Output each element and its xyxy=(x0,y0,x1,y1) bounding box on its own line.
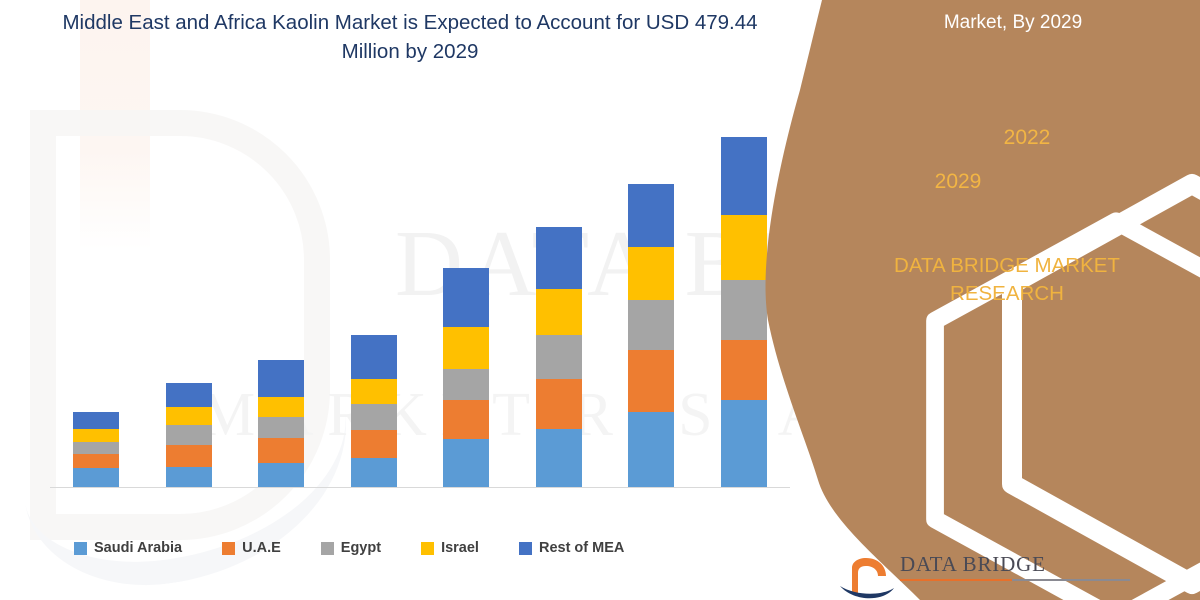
chart-legend: Saudi ArabiaU.A.EEgyptIsraelRest of MEA xyxy=(74,540,774,556)
legend-item[interactable]: Israel xyxy=(421,540,479,556)
bar-segment xyxy=(721,400,767,487)
hexagon-badges: 2029 2022 xyxy=(896,84,1116,244)
bar-segment xyxy=(443,369,489,400)
chart-title: Middle East and Africa Kaolin Market is … xyxy=(40,8,780,66)
bar-column xyxy=(605,120,698,487)
legend-label: Israel xyxy=(441,540,479,556)
logo-rule-accent xyxy=(900,579,1012,581)
legend-swatch-icon xyxy=(421,542,434,555)
stacked-bar xyxy=(73,412,119,487)
legend-label: Egypt xyxy=(341,540,381,556)
bar-segment xyxy=(166,383,212,407)
bar-segment xyxy=(258,417,304,438)
stacked-bar xyxy=(443,268,489,487)
logo-mark-icon xyxy=(838,548,894,600)
legend-swatch-icon xyxy=(519,542,532,555)
bar-column xyxy=(328,120,421,487)
brand-line-1: DATA BRIDGE MARKET xyxy=(894,254,1120,277)
legend-label: Rest of MEA xyxy=(539,540,624,556)
bar-column xyxy=(420,120,513,487)
bar-segment xyxy=(536,335,582,379)
bar-segment xyxy=(443,400,489,439)
bar-segment xyxy=(166,467,212,487)
infographic-canvas: DATA BRIDGE MARKET RESEARCH Middle East … xyxy=(0,0,1200,600)
bar-segment xyxy=(536,379,582,429)
plot-area: 20222023202420252026202720282029 xyxy=(50,120,790,488)
bar-segment xyxy=(721,340,767,400)
legend-swatch-icon xyxy=(74,542,87,555)
legend-item[interactable]: Rest of MEA xyxy=(519,540,624,556)
bar-segment xyxy=(166,425,212,445)
stacked-bar xyxy=(258,360,304,487)
legend-label: U.A.E xyxy=(242,540,281,556)
bar-segment xyxy=(351,379,397,404)
bar-segment xyxy=(258,360,304,397)
hexagon-2029 xyxy=(896,120,1200,600)
hexagon-2022-label: 2022 xyxy=(982,126,1072,150)
panel-header: Market, By 2029 xyxy=(848,12,1178,34)
bar-segment xyxy=(721,280,767,340)
bar-segment xyxy=(73,468,119,487)
bar-segment xyxy=(443,327,489,369)
legend-item[interactable]: Egypt xyxy=(321,540,381,556)
bar-segment xyxy=(166,445,212,467)
logo-text: DATA BRIDGE xyxy=(900,552,1046,577)
bar-segment xyxy=(351,458,397,487)
bar-segment xyxy=(628,184,674,247)
bar-group xyxy=(50,120,790,487)
bar-segment xyxy=(628,247,674,300)
x-axis-line xyxy=(50,487,790,488)
bar-segment xyxy=(536,227,582,289)
brand-panel-shape xyxy=(760,0,1200,600)
bar-segment xyxy=(73,429,119,442)
legend-swatch-icon xyxy=(321,542,334,555)
legend-swatch-icon xyxy=(222,542,235,555)
bar-column xyxy=(50,120,143,487)
stacked-bar xyxy=(536,227,582,487)
hexagon-2022 xyxy=(972,84,1200,600)
stacked-bar xyxy=(351,335,397,487)
legend-item[interactable]: Saudi Arabia xyxy=(74,540,182,556)
bar-segment xyxy=(351,404,397,430)
stacked-bar xyxy=(166,383,212,487)
brand-panel: Market, By 2029 2029 2022 DATA BRIDGE MA… xyxy=(760,0,1200,600)
bar-column xyxy=(513,120,606,487)
bar-segment xyxy=(628,350,674,412)
bar-segment xyxy=(73,442,119,454)
brand-name: DATA BRIDGE MARKET RESEARCH xyxy=(842,252,1172,308)
bar-segment xyxy=(628,412,674,487)
bar-column xyxy=(143,120,236,487)
bar-segment xyxy=(536,289,582,335)
stacked-bar xyxy=(721,137,767,487)
bar-segment xyxy=(258,397,304,417)
bar-column xyxy=(235,120,328,487)
bar-segment xyxy=(73,454,119,468)
data-bridge-logo: DATA BRIDGE xyxy=(838,548,1158,600)
bar-segment xyxy=(536,429,582,487)
bar-segment xyxy=(258,463,304,487)
bar-segment xyxy=(166,407,212,425)
bar-segment xyxy=(351,430,397,458)
hexagon-2029-label: 2029 xyxy=(913,170,1003,194)
bar-segment xyxy=(721,137,767,215)
bar-segment xyxy=(443,439,489,487)
bar-segment xyxy=(443,268,489,327)
bar-segment xyxy=(721,215,767,280)
bar-segment xyxy=(628,300,674,350)
bar-column xyxy=(698,120,791,487)
bar-segment xyxy=(351,335,397,379)
brand-line-2: RESEARCH xyxy=(950,282,1064,305)
bar-segment xyxy=(258,438,304,463)
bar-segment xyxy=(73,412,119,429)
legend-item[interactable]: U.A.E xyxy=(222,540,281,556)
stacked-bar xyxy=(628,184,674,487)
legend-label: Saudi Arabia xyxy=(94,540,182,556)
